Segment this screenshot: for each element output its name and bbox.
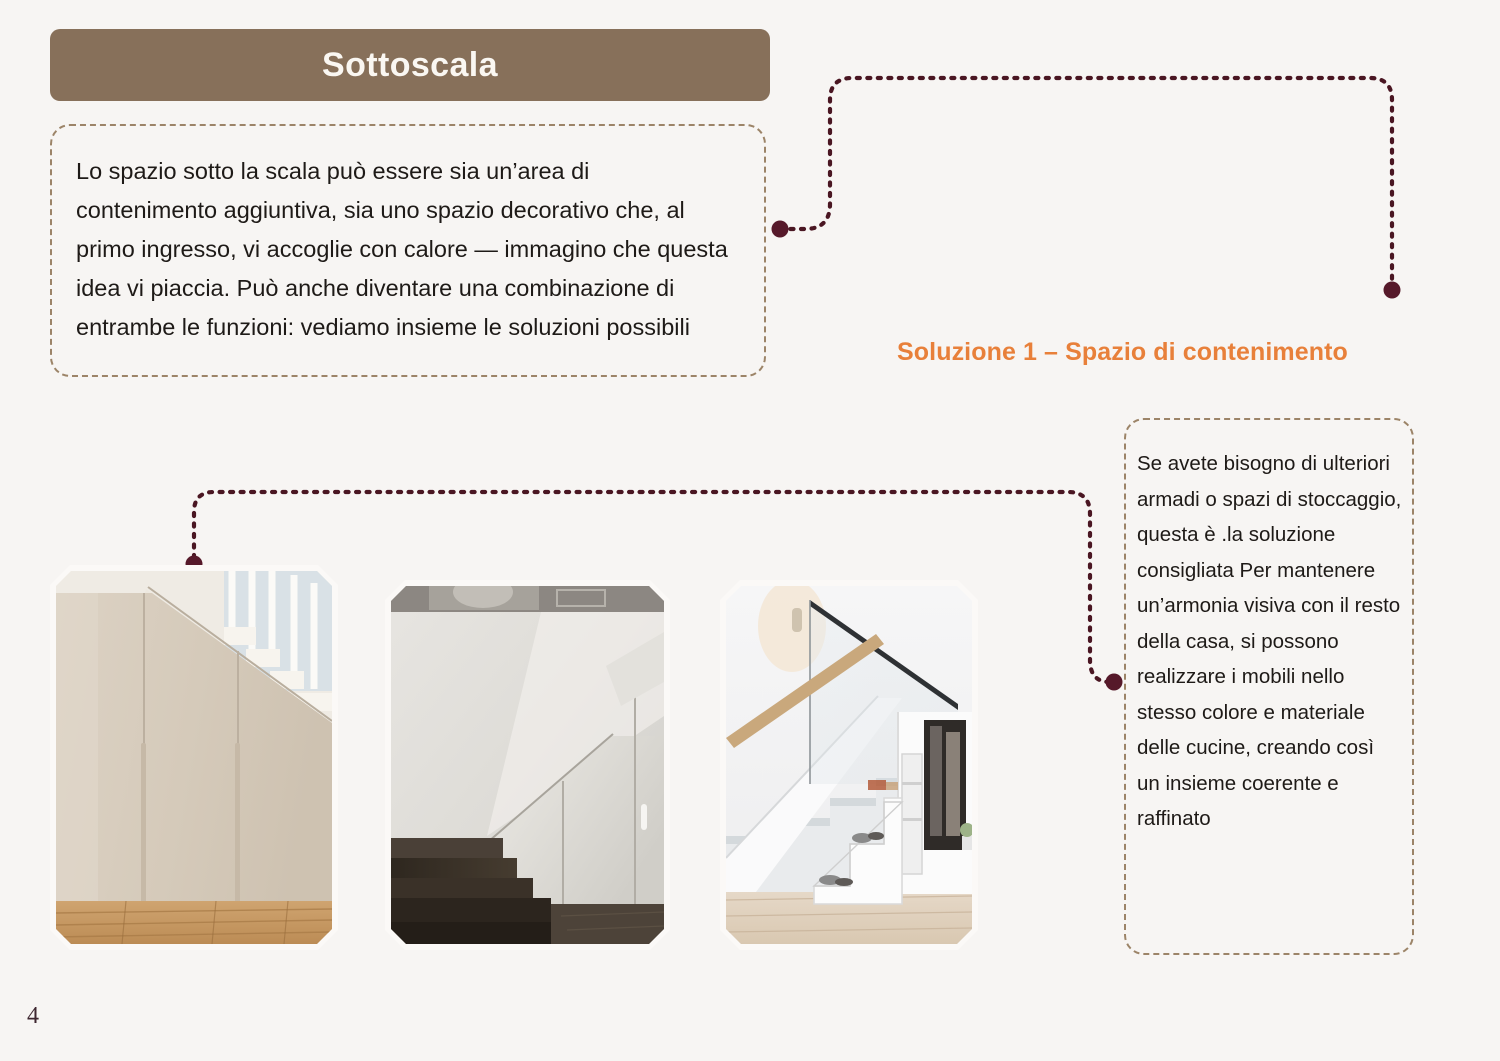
section-heading-solution-1: Soluzione 1 – Spazio di contenimento <box>897 338 1348 367</box>
intro-paragraph: Lo spazio sotto la scala può essere sia … <box>76 152 730 347</box>
slide-canvas: Sottoscala Lo spazio sotto la scala può … <box>0 0 1500 1061</box>
detail-paragraph: Se avete bisogno di ulteriori armadi o s… <box>1137 446 1402 837</box>
photo-understair-pullout-drawers-glass-rail[interactable] <box>720 580 978 950</box>
photo-2-inner <box>391 586 664 944</box>
photo-3-illustration <box>726 586 972 944</box>
detail-text-box: Se avete bisogno di ulteriori armadi o s… <box>1124 418 1414 955</box>
photo-2-illustration <box>391 586 664 944</box>
photo-understair-white-storage-dark-steps[interactable] <box>385 580 670 950</box>
connector-dot-intro-start <box>772 221 789 238</box>
photo-1-inner <box>56 571 332 944</box>
connector-dot-heading-end <box>1384 282 1401 299</box>
page-title: Sottoscala <box>322 46 498 85</box>
connector-title-to-intro-path <box>780 78 1392 284</box>
photo-3-inner <box>726 586 972 944</box>
page-number: 4 <box>27 1003 39 1030</box>
slide-title-bar: Sottoscala <box>50 29 770 101</box>
connector-dot-detail-end <box>1106 674 1123 691</box>
intro-text-box: Lo spazio sotto la scala può essere sia … <box>50 124 766 377</box>
photo-1-illustration <box>56 571 332 944</box>
photo-understair-cream-cabinets[interactable] <box>50 565 338 950</box>
